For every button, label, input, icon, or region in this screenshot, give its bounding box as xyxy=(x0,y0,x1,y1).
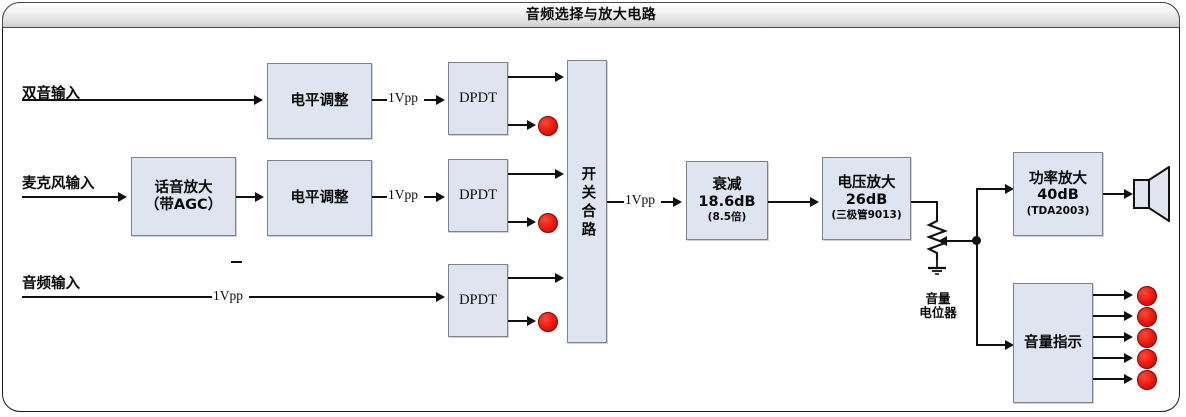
block-switch-combiner-label: 开关合路 xyxy=(579,166,596,240)
led-dpdt-3 xyxy=(538,312,558,332)
wire-attenuator-to-voltamp xyxy=(768,201,812,203)
arrow-dpdt3-led xyxy=(527,316,536,326)
wire-volume-led-3 xyxy=(1093,336,1127,338)
wire-mic-in xyxy=(22,196,118,198)
led-dpdt-1 xyxy=(538,116,558,136)
led-volume-5 xyxy=(1137,370,1157,390)
wire-vpp-to-dpdt2 xyxy=(424,196,436,198)
diagram-canvas: 音频选择与放大电路 双音输入 电平调整 1Vpp DPDT 麦克风输入 话音放大… xyxy=(0,0,1186,417)
wire-audio-in-right xyxy=(249,296,436,298)
signal-label-vpp-audio: 1Vpp xyxy=(212,288,244,304)
block-dpdt-2[interactable]: DPDT xyxy=(448,159,508,232)
block-voltage-amplifier-label-1: 电压放大 xyxy=(838,175,896,192)
wire-node-up xyxy=(976,188,978,240)
arrow-volume-led-5 xyxy=(1124,374,1133,384)
block-level-adjust-2[interactable]: 电平调整 xyxy=(267,160,372,236)
arrow-dpdt2-in xyxy=(436,192,445,202)
block-volume-indicator-label: 音量指示 xyxy=(1024,335,1082,352)
wire-voltamp-out xyxy=(911,201,938,203)
wire-node-down xyxy=(976,240,978,346)
led-volume-3 xyxy=(1137,328,1157,348)
potentiometer-label: 音量 电位器 xyxy=(908,292,968,320)
arrow-dpdt3-to-combiner xyxy=(555,273,564,283)
wire-dual-tone-in xyxy=(22,99,254,101)
block-dpdt-3[interactable]: DPDT xyxy=(448,264,508,337)
wire-volume-led-1 xyxy=(1093,294,1127,296)
arrow-volume-led-1 xyxy=(1124,290,1133,300)
wire-vpp-to-dpdt1 xyxy=(424,99,436,101)
potentiometer-label-line1: 音量 xyxy=(908,292,968,306)
block-attenuator-label-2: 18.6dB xyxy=(698,194,755,211)
block-attenuator-sub: (8.5倍) xyxy=(708,211,747,224)
block-switch-combiner[interactable]: 开关合路 xyxy=(567,60,607,343)
block-voltage-amplifier-label-2: 26dB xyxy=(846,192,888,209)
wire-volume-led-5 xyxy=(1093,378,1127,380)
led-volume-4 xyxy=(1137,349,1157,369)
block-attenuator-label-1: 衰减 xyxy=(713,177,742,194)
arrow-dpdt2-to-combiner xyxy=(555,169,564,179)
arrow-mic-in xyxy=(118,192,127,202)
wire-combiner-out xyxy=(607,201,625,203)
arrow-dpdt3-in xyxy=(436,292,445,302)
wire-level1-to-vpp xyxy=(372,99,387,101)
block-level-adjust-1-label: 电平调整 xyxy=(291,93,349,110)
wire-volume-led-2 xyxy=(1093,315,1127,317)
arrow-speaker-in xyxy=(1124,189,1133,199)
block-dpdt-2-label: DPDT xyxy=(459,187,497,204)
block-level-adjust-1[interactable]: 电平调整 xyxy=(267,63,372,139)
wire-volume-led-4 xyxy=(1093,357,1127,359)
input-label-microphone: 麦克风输入 xyxy=(22,172,95,193)
arrow-dpdt2-led xyxy=(527,217,536,227)
wire-dpdt1-to-combiner xyxy=(508,76,555,78)
arrow-volume-led-4 xyxy=(1124,353,1133,363)
wire-dpdt2-to-combiner xyxy=(508,173,555,175)
arrow-dpdt1-to-combiner xyxy=(555,72,564,82)
stray-mark xyxy=(231,261,242,263)
arrow-dual-tone-in xyxy=(254,95,263,105)
block-voltage-amplifier-sub: (三极管9013) xyxy=(831,209,901,222)
block-voice-amplifier-label-1: 话音放大 xyxy=(155,180,213,197)
block-volume-indicator[interactable]: 音量指示 xyxy=(1013,283,1093,403)
arrow-voltamp-in xyxy=(810,197,819,207)
signal-label-vpp-combiner-out: 1Vpp xyxy=(624,192,656,208)
wire-node-to-volume-indicator xyxy=(976,344,1006,346)
block-power-amplifier-sub: (TDA2003) xyxy=(1027,205,1090,218)
led-volume-1 xyxy=(1137,286,1157,306)
page-title: 音频选择与放大电路 xyxy=(526,8,657,22)
block-power-amplifier-label-2: 40dB xyxy=(1037,187,1079,204)
block-voltage-amplifier[interactable]: 电压放大 26dB (三极管9013) xyxy=(822,157,911,240)
wire-node-to-poweramp xyxy=(976,188,1006,190)
block-dpdt-1-label: DPDT xyxy=(459,90,497,107)
potentiometer-label-line2: 电位器 xyxy=(908,306,968,320)
signal-label-vpp-microphone: 1Vpp xyxy=(387,187,419,203)
wire-vpp-to-attenuator xyxy=(661,201,673,203)
arrow-dpdt1-led xyxy=(527,120,536,130)
potentiometer-icon xyxy=(916,216,960,278)
wire-voiceamp-to-level2 xyxy=(236,196,255,198)
arrow-pot-wiper xyxy=(938,236,947,246)
block-level-adjust-2-label: 电平调整 xyxy=(291,190,349,207)
block-dpdt-1[interactable]: DPDT xyxy=(448,62,508,135)
block-voice-amplifier-label-2: （带AGC） xyxy=(145,197,222,214)
wire-level2-to-vpp xyxy=(372,196,387,198)
signal-label-vpp-dual-tone: 1Vpp xyxy=(387,90,419,106)
speaker-icon xyxy=(1133,166,1181,222)
wire-audio-in-left xyxy=(22,296,212,298)
block-power-amplifier-label-1: 功率放大 xyxy=(1029,171,1087,188)
wire-dpdt3-to-combiner xyxy=(508,277,555,279)
block-power-amplifier[interactable]: 功率放大 40dB (TDA2003) xyxy=(1013,152,1103,236)
arrow-volume-led-2 xyxy=(1124,311,1133,321)
arrow-dpdt1-in xyxy=(436,95,445,105)
arrow-volume-led-3 xyxy=(1124,332,1133,342)
block-attenuator[interactable]: 衰减 18.6dB (8.5倍) xyxy=(686,161,768,240)
arrow-level2-in xyxy=(255,192,264,202)
led-dpdt-2 xyxy=(538,213,558,233)
block-dpdt-3-label: DPDT xyxy=(459,292,497,309)
block-voice-amplifier[interactable]: 话音放大 （带AGC） xyxy=(131,157,236,236)
input-label-audio: 音频输入 xyxy=(22,272,80,293)
arrow-attenuator-in xyxy=(673,197,682,207)
diagram-title-bar: 音频选择与放大电路 xyxy=(2,2,1180,28)
led-volume-2 xyxy=(1137,307,1157,327)
